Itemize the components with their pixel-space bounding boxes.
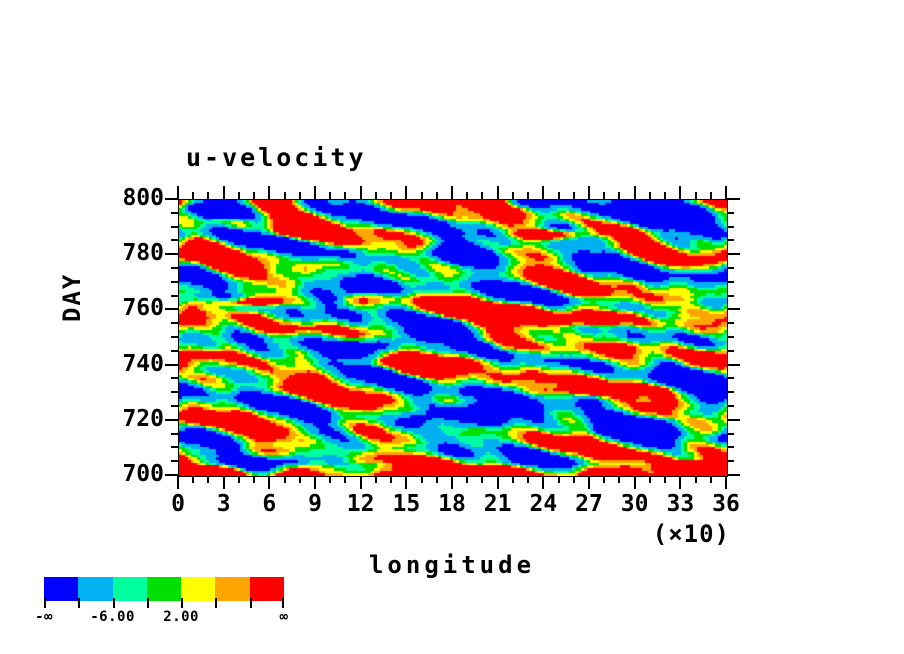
colorbar-label-2: 2.00 — [149, 610, 213, 624]
x-tick-minor-top — [421, 192, 423, 199]
x-tick-minor — [664, 476, 666, 483]
x-tick-major-top — [451, 186, 453, 199]
y-tick-minor-right — [727, 446, 734, 448]
y-tick-minor-right — [727, 226, 734, 228]
y-tick-major — [165, 308, 178, 310]
colorbar-band-0 — [44, 577, 78, 601]
y-tick-minor — [171, 295, 178, 297]
y-tick-major — [165, 364, 178, 366]
x-tick-major-top — [634, 186, 636, 199]
y-tick-minor-right — [727, 336, 734, 338]
x-tick-minor — [375, 476, 377, 483]
x-tick-minor-top — [573, 192, 575, 199]
y-tick-minor-right — [727, 281, 734, 283]
x-tick-major — [588, 476, 590, 489]
x-tick-major — [634, 476, 636, 489]
x-tick-minor — [192, 476, 194, 483]
y-tick-label: 720 — [90, 408, 164, 431]
x-tick-minor-top — [695, 192, 697, 199]
colorbar-band-2 — [113, 577, 147, 601]
x-tick-minor — [512, 476, 514, 483]
x-tick-major-top — [223, 186, 225, 199]
x-tick-minor — [299, 476, 301, 483]
x-tick-minor-top — [481, 192, 483, 199]
y-tick-minor-right — [727, 239, 734, 241]
x-tick-minor-top — [207, 192, 209, 199]
x-tick-minor — [558, 476, 560, 483]
colorbar-tick-6 — [250, 598, 252, 608]
colorbar-band-1 — [78, 577, 112, 601]
y-tick-label: 760 — [90, 297, 164, 320]
x-tick-major — [451, 476, 453, 489]
x-tick-minor-top — [299, 192, 301, 199]
x-tick-minor-top — [436, 192, 438, 199]
x-tick-minor-top — [284, 192, 286, 199]
x-tick-label: 36 — [696, 493, 756, 516]
x-tick-minor — [481, 476, 483, 483]
x-tick-minor — [618, 476, 620, 483]
x-tick-minor — [649, 476, 651, 483]
y-tick-minor-right — [727, 267, 734, 269]
colorbar[interactable]: -∞-6.002.00∞ — [44, 577, 284, 635]
x-tick-minor — [466, 476, 468, 483]
figure-canvas: u-velocity 0369121518212427303336 700720… — [0, 0, 904, 654]
x-tick-minor-top — [329, 192, 331, 199]
x-tick-major-top — [360, 186, 362, 199]
x-tick-major-top — [314, 186, 316, 199]
x-tick-minor — [344, 476, 346, 483]
y-tick-minor — [171, 391, 178, 393]
x-tick-major-top — [588, 186, 590, 199]
colorbar-label-1: -6.00 — [81, 610, 145, 624]
y-tick-minor-right — [727, 391, 734, 393]
y-tick-minor-right — [727, 433, 734, 435]
x-tick-major — [542, 476, 544, 489]
page-title: u-velocity — [186, 145, 367, 170]
x-tick-minor-top — [618, 192, 620, 199]
x-tick-minor-top — [527, 192, 529, 199]
y-tick-minor-right — [727, 377, 734, 379]
heatmap-field — [179, 200, 727, 476]
x-tick-major-top — [679, 186, 681, 199]
x-tick-minor-top — [558, 192, 560, 199]
colorbar-band-6 — [250, 577, 284, 601]
x-tick-major — [314, 476, 316, 489]
y-tick-minor — [171, 322, 178, 324]
x-tick-major — [405, 476, 407, 489]
y-tick-minor-right — [727, 322, 734, 324]
y-tick-minor-right — [727, 405, 734, 407]
x-tick-minor-top — [649, 192, 651, 199]
y-tick-minor — [171, 433, 178, 435]
y-axis-title: DAY — [60, 282, 84, 322]
x-axis-multiplier-label: (×10) — [560, 522, 730, 546]
x-tick-major — [360, 476, 362, 489]
y-tick-minor — [171, 405, 178, 407]
y-tick-label: 780 — [90, 242, 164, 265]
x-tick-minor — [436, 476, 438, 483]
y-tick-major — [165, 198, 178, 200]
x-tick-minor — [710, 476, 712, 483]
x-tick-major-top — [542, 186, 544, 199]
x-axis-title: longitude — [178, 553, 726, 577]
y-tick-minor-right — [727, 295, 734, 297]
y-tick-major-right — [727, 419, 740, 421]
colorbar-tick-0 — [44, 598, 46, 608]
colorbar-tick-7 — [282, 598, 284, 608]
colorbar-band-5 — [215, 577, 249, 601]
x-tick-minor-top — [253, 192, 255, 199]
x-tick-major-top — [405, 186, 407, 199]
y-tick-major-right — [727, 308, 740, 310]
y-tick-label: 800 — [90, 187, 164, 210]
x-tick-minor-top — [238, 192, 240, 199]
x-tick-major-top — [497, 186, 499, 199]
x-tick-minor-top — [466, 192, 468, 199]
y-tick-minor — [171, 350, 178, 352]
y-tick-minor — [171, 226, 178, 228]
x-tick-minor — [238, 476, 240, 483]
x-tick-major — [497, 476, 499, 489]
x-tick-minor — [603, 476, 605, 483]
y-tick-label: 740 — [90, 353, 164, 376]
colorbar-label-3: ∞ — [252, 610, 316, 624]
y-tick-minor-right — [727, 212, 734, 214]
x-tick-minor-top — [512, 192, 514, 199]
x-tick-minor-top — [603, 192, 605, 199]
y-tick-minor-right — [727, 350, 734, 352]
y-tick-major — [165, 253, 178, 255]
colorbar-label-0: -∞ — [12, 610, 76, 624]
x-tick-minor — [527, 476, 529, 483]
x-tick-major — [223, 476, 225, 489]
x-tick-minor-top — [375, 192, 377, 199]
y-tick-major — [165, 419, 178, 421]
x-tick-minor — [695, 476, 697, 483]
y-tick-major-right — [727, 253, 740, 255]
y-tick-major-right — [727, 364, 740, 366]
colorbar-bands — [44, 577, 284, 601]
colorbar-tick-5 — [215, 598, 217, 608]
x-tick-minor-top — [192, 192, 194, 199]
x-tick-minor — [573, 476, 575, 483]
x-tick-minor — [284, 476, 286, 483]
x-tick-minor — [421, 476, 423, 483]
x-tick-major-top — [268, 186, 270, 199]
colorbar-band-4 — [181, 577, 215, 601]
colorbar-tick-1 — [78, 598, 80, 608]
colorbar-band-3 — [147, 577, 181, 601]
x-tick-minor — [253, 476, 255, 483]
y-tick-minor — [171, 239, 178, 241]
x-tick-minor — [329, 476, 331, 483]
x-tick-minor-top — [344, 192, 346, 199]
y-tick-minor — [171, 460, 178, 462]
y-tick-minor — [171, 212, 178, 214]
y-tick-major-right — [727, 198, 740, 200]
y-tick-major — [165, 474, 178, 476]
y-tick-minor — [171, 267, 178, 269]
x-tick-minor-top — [664, 192, 666, 199]
colorbar-tick-3 — [147, 598, 149, 608]
colorbar-tick-2 — [113, 598, 115, 608]
x-tick-major — [725, 476, 727, 489]
y-tick-major-right — [727, 474, 740, 476]
y-tick-label: 700 — [90, 463, 164, 486]
x-tick-major — [268, 476, 270, 489]
y-tick-minor — [171, 377, 178, 379]
x-tick-major — [177, 476, 179, 489]
x-tick-minor-top — [710, 192, 712, 199]
x-tick-minor — [390, 476, 392, 483]
heatmap-plot-area[interactable] — [178, 199, 728, 477]
y-tick-minor — [171, 281, 178, 283]
colorbar-tick-4 — [181, 598, 183, 608]
y-tick-minor — [171, 446, 178, 448]
y-tick-minor-right — [727, 460, 734, 462]
y-tick-minor — [171, 336, 178, 338]
x-tick-major — [679, 476, 681, 489]
x-tick-minor-top — [390, 192, 392, 199]
x-tick-minor — [207, 476, 209, 483]
